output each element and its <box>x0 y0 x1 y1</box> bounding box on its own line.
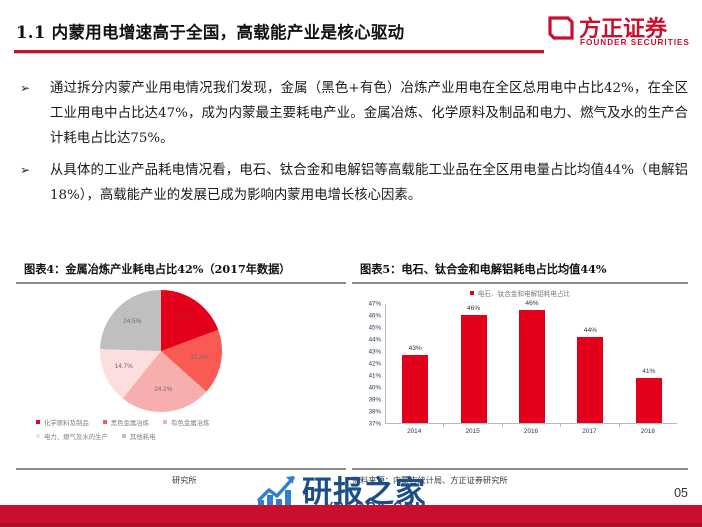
pie-slice-label: 24.5% <box>123 318 141 325</box>
chart-5-title: 图表5：电石、钛合金和电解铝耗电占比均值44% <box>352 258 688 277</box>
chart-5-bottom-rule <box>352 468 688 470</box>
y-axis-tick-label: 37% <box>357 420 381 427</box>
bar-plot: 37%38%39%40%41%42%43%44%45%46%47% 43%46%… <box>358 304 680 439</box>
y-axis: 37%38%39%40%41%42%43%44%45%46%47% <box>358 304 384 424</box>
page-title: 1.1 内蒙用电增速高于全国，高载能产业是核心驱动 <box>16 19 404 43</box>
pie-slice-label: 19.3% <box>174 314 192 321</box>
bar-legend-swatch <box>470 291 474 295</box>
pie-legend-label: 黑色金属冶炼 <box>111 418 149 427</box>
bar[interactable] <box>519 310 545 423</box>
bar-value-label: 43% <box>409 345 422 352</box>
bar-legend-label: 电石、钛合金和电解铝耗电占比 <box>478 288 570 298</box>
page-number: 05 <box>674 486 688 500</box>
pie-legend-item[interactable]: 其他耗电 <box>122 432 156 441</box>
pie-legend-swatch <box>36 420 40 424</box>
pie-legend-swatch <box>36 434 40 438</box>
pie-slice-label: 17.3% <box>190 354 208 361</box>
footer-bar-shadow <box>0 523 702 527</box>
pie-slice-label: 14.7% <box>115 363 133 370</box>
pie-legend-item[interactable]: 黑色金属冶炼 <box>103 418 149 427</box>
x-axis-tick-label: 2016 <box>524 428 538 435</box>
y-axis-tick-label: 43% <box>357 348 381 355</box>
pie-legend-item[interactable]: 化学原料及制品 <box>36 418 89 427</box>
y-axis-tick-label: 39% <box>357 396 381 403</box>
chart-4-body: 19.3%17.3%24.2%14.7%24.5% 化学原料及制品黑色金属冶炼有… <box>16 284 346 462</box>
x-axis-tick-label: 2014 <box>407 428 421 435</box>
y-axis-tick-label: 41% <box>357 372 381 379</box>
pie-legend-item[interactable]: 有色金属冶炼 <box>163 418 209 427</box>
slide-header: 1.1 内蒙用电增速高于全国，高载能产业是核心驱动 方正证券 FOUNDER S… <box>0 0 702 62</box>
bar[interactable] <box>636 378 662 422</box>
pie-legend-row-bottom: 电力、燃气及水的生产其他耗电 <box>36 432 336 441</box>
pie-legend-swatch <box>163 420 167 424</box>
chart-4-source: 研究所 <box>172 474 197 486</box>
x-axis-tick-mark <box>619 424 620 427</box>
plot-area: 43%46%46%44%41% <box>385 304 677 424</box>
chart-panel-pie: 图表4：金属冶炼产业耗电占比42%（2017年数据） 19.3%17.3%24.… <box>16 258 346 470</box>
bar[interactable] <box>461 315 487 423</box>
pie-legend-row-top: 化学原料及制品黑色金属冶炼有色金属冶炼 <box>36 418 336 427</box>
founder-securities-mark-icon <box>548 15 574 41</box>
pie-legend-label: 其他耗电 <box>130 432 156 441</box>
x-axis-tick-label: 2015 <box>465 428 479 435</box>
paragraph-2-text: 从具体的工业产品耗电情况看，电石、钛合金和电解铝等高载能工业品在全区用电量占比均… <box>50 163 688 203</box>
header-rule-thin <box>14 53 544 54</box>
paragraph-1: ➢ 通过拆分内蒙产业用电情况我们发现，金属（黑色+有色）冶炼产业用电在全区总用电… <box>16 76 688 151</box>
logo-text-en: FOUNDER SECURITIES <box>580 38 690 47</box>
pie-legend-swatch <box>103 420 107 424</box>
y-axis-tick-label: 46% <box>357 312 381 319</box>
pie-legend-swatch <box>122 434 126 438</box>
chart-panel-bar: 图表5：电石、钛合金和电解铝耗电占比均值44% 电石、钛合金和电解铝耗电占比 3… <box>352 258 688 470</box>
pie-chart: 19.3%17.3%24.2%14.7%24.5% <box>16 288 346 420</box>
pie-legend: 化学原料及制品黑色金属冶炼有色金属冶炼 电力、燃气及水的生产其他耗电 <box>36 418 336 446</box>
chart-4-bottom-rule <box>16 468 346 470</box>
y-axis-tick-label: 47% <box>357 300 381 307</box>
x-axis-tick-mark <box>443 424 444 427</box>
y-axis-tick-label: 42% <box>357 360 381 367</box>
pie-slice-label: 24.2% <box>154 386 172 393</box>
chart-5-body: 电石、钛合金和电解铝耗电占比 37%38%39%40%41%42%43%44%4… <box>352 284 688 462</box>
bullet-arrow-icon: ➢ <box>20 158 30 183</box>
pie-legend-item[interactable]: 电力、燃气及水的生产 <box>36 432 108 441</box>
x-axis-tick-label: 2017 <box>582 428 596 435</box>
bar[interactable] <box>577 337 603 422</box>
chart-4-title: 图表4：金属冶炼产业耗电占比42%（2017年数据） <box>16 258 346 277</box>
bar-value-label: 46% <box>525 300 538 307</box>
paragraph-2: ➢ 从具体的工业产品耗电情况看，电石、钛合金和电解铝等高载能工业品在全区用电量占… <box>16 158 688 208</box>
y-axis-tick-label: 38% <box>357 408 381 415</box>
x-axis-tick-mark <box>560 424 561 427</box>
bullet-arrow-icon: ➢ <box>20 76 30 101</box>
y-axis-tick-label: 44% <box>357 336 381 343</box>
y-axis-tick-label: 45% <box>357 324 381 331</box>
x-axis-tick-label: 2018 <box>641 428 655 435</box>
paragraph-1-text: 通过拆分内蒙产业用电情况我们发现，金属（黑色+有色）冶炼产业用电在全区总用电中占… <box>50 81 688 146</box>
bar-value-label: 46% <box>467 305 480 312</box>
x-axis-tick-mark <box>502 424 503 427</box>
body-text-block: ➢ 通过拆分内蒙产业用电情况我们发现，金属（黑色+有色）冶炼产业用电在全区总用电… <box>16 76 688 215</box>
bar-value-label: 44% <box>584 327 597 334</box>
pie-legend-label: 电力、燃气及水的生产 <box>44 432 108 441</box>
y-axis-tick-label: 40% <box>357 384 381 391</box>
bar-value-label: 41% <box>642 368 655 375</box>
chart-5-source: 资料来源：内蒙古统计局、方正证券研究所 <box>352 474 508 486</box>
pie-legend-label: 有色金属冶炼 <box>171 418 209 427</box>
bar[interactable] <box>402 355 428 422</box>
bar-legend: 电石、钛合金和电解铝耗电占比 <box>352 288 688 298</box>
company-logo: 方正证券 FOUNDER SECURITIES <box>546 11 694 53</box>
pie-legend-label: 化学原料及制品 <box>44 418 89 427</box>
slide-page: 1.1 内蒙用电增速高于全国，高载能产业是核心驱动 方正证券 FOUNDER S… <box>0 0 702 527</box>
